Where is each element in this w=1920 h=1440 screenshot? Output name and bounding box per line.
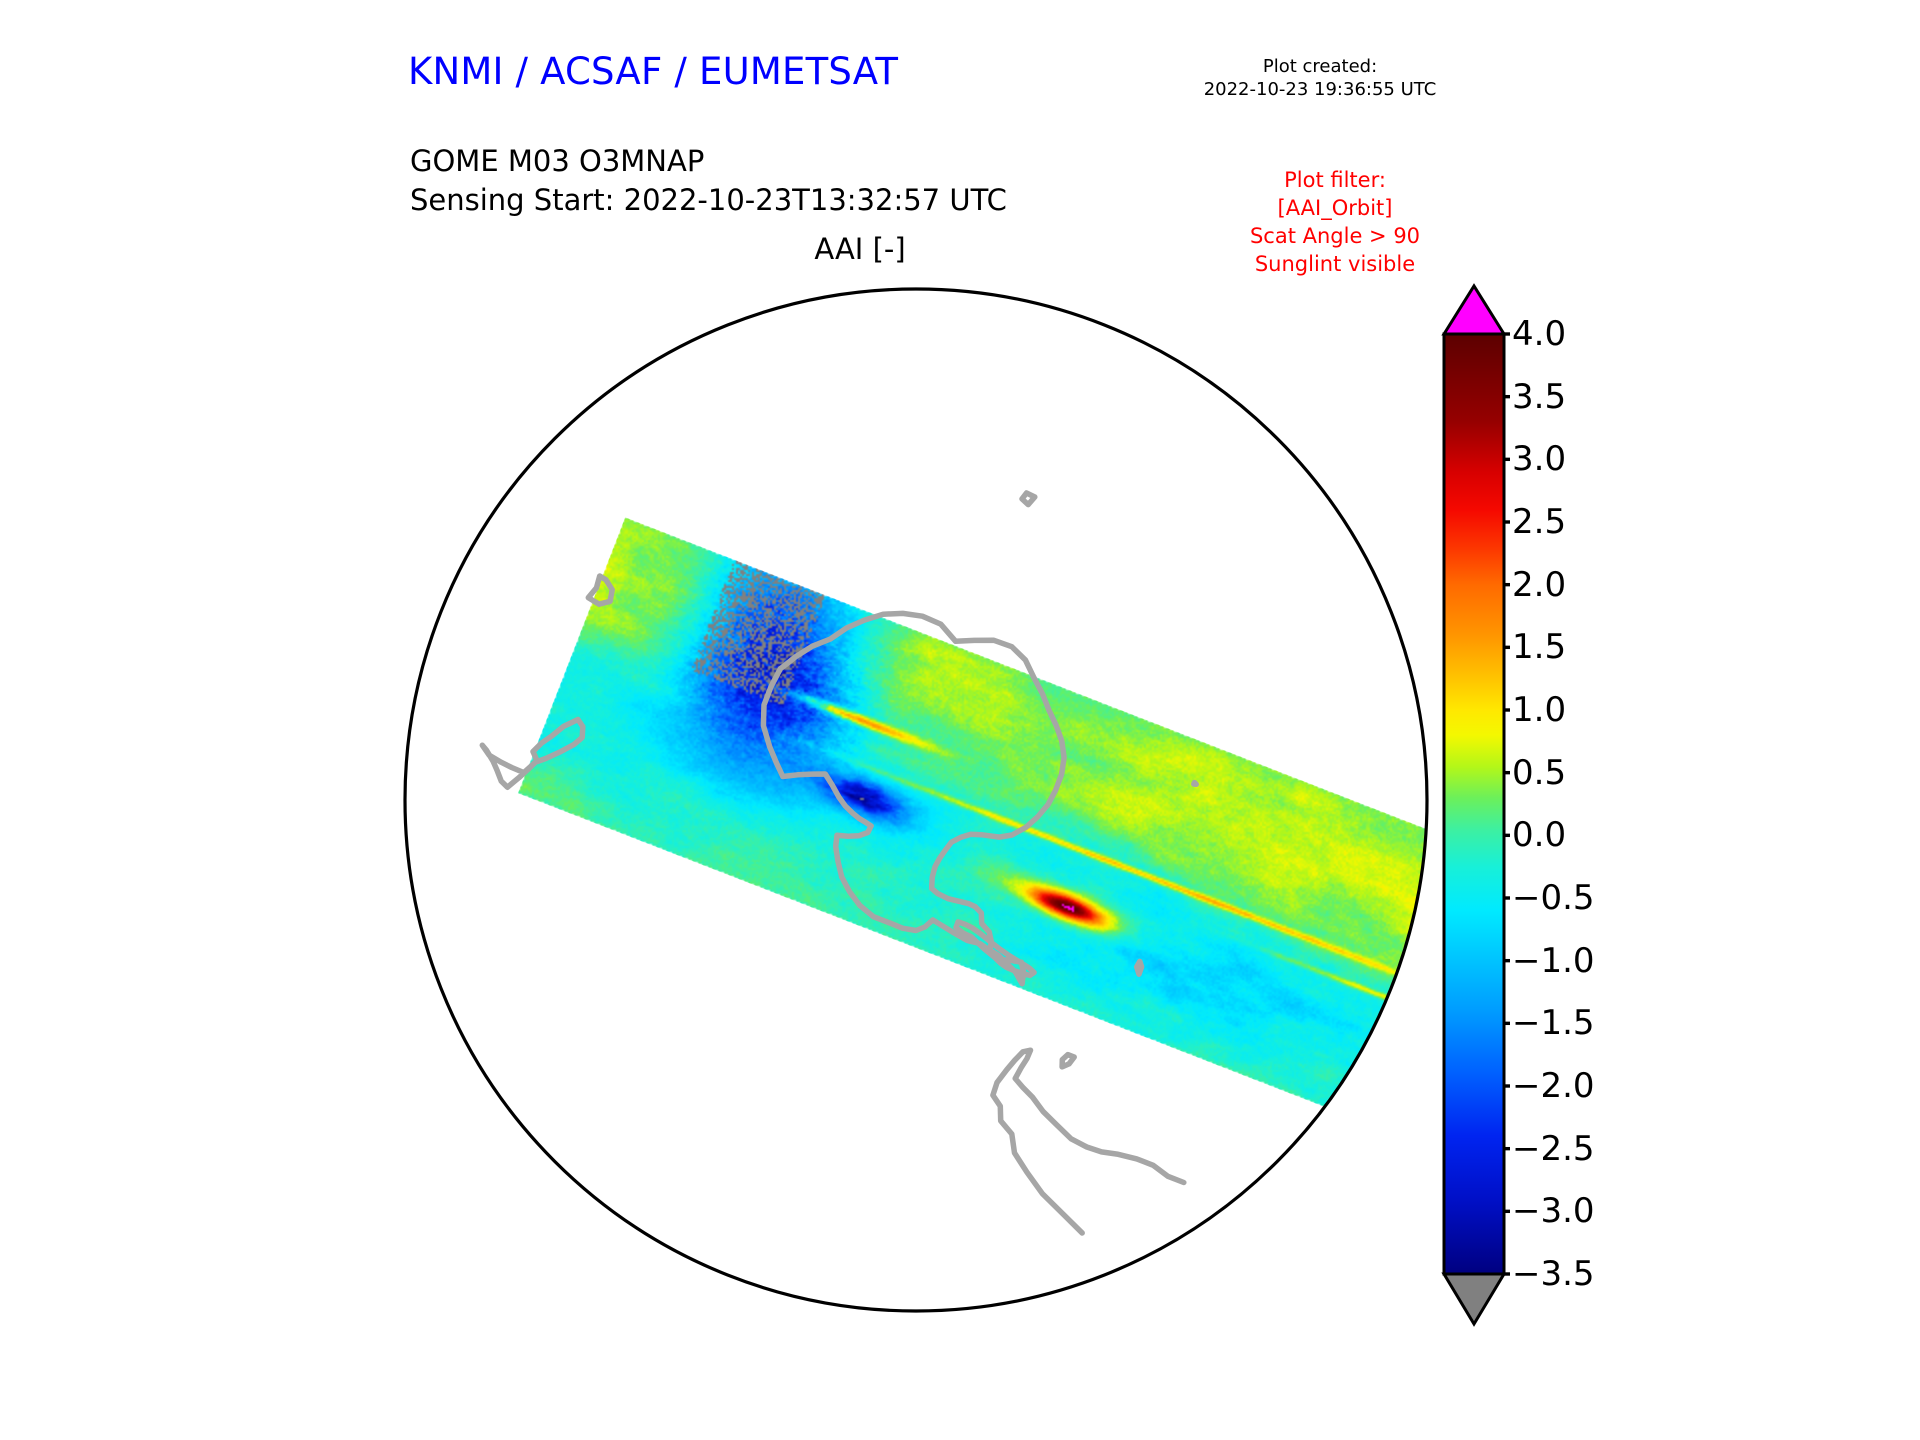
colorbar-tick-label: −2.5	[1512, 1129, 1595, 1169]
colorbar-tick-label: 4.0	[1512, 314, 1566, 354]
colorbar-tick-label: 0.0	[1512, 815, 1566, 855]
sensing-start: Sensing Start: 2022-10-23T13:32:57 UTC	[410, 181, 1007, 220]
plot-created-label: Plot created:	[1155, 55, 1485, 78]
colorbar-tick-label: 3.0	[1512, 439, 1566, 479]
plot-created-block: Plot created: 2022-10-23 19:36:55 UTC	[1155, 55, 1485, 102]
colorbar-tick-label: 3.5	[1512, 377, 1566, 417]
plot-created-timestamp: 2022-10-23 19:36:55 UTC	[1155, 78, 1485, 101]
colorbar-over-arrow	[1444, 286, 1504, 334]
colorbar-tick-labels: 4.03.53.02.52.01.51.00.50.0−0.5−1.0−1.5−…	[1512, 280, 1642, 1330]
colorbar-tick-label: 1.0	[1512, 690, 1566, 730]
plot-filter-line-1: Plot filter:	[1185, 167, 1485, 195]
colorbar-tick-label: 1.5	[1512, 627, 1566, 667]
plot-filter-line-2: [AAI_Orbit]	[1185, 195, 1485, 223]
colorbar-tick-label: −0.5	[1512, 878, 1595, 918]
colorbar-under-arrow	[1444, 1274, 1504, 1324]
organisation-title: KNMI / ACSAF / EUMETSAT	[408, 50, 898, 93]
product-info-block: GOME M03 O3MNAP Sensing Start: 2022-10-2…	[410, 142, 1007, 219]
colorbar-tick-label: −3.5	[1512, 1254, 1595, 1294]
map-plot-area	[392, 276, 1440, 1324]
colorbar-gradient-bar	[1444, 334, 1504, 1274]
colorbar-tick-label: −1.0	[1512, 941, 1595, 981]
plot-filter-block: Plot filter: [AAI_Orbit] Scat Angle > 90…	[1185, 167, 1485, 279]
colorbar	[1440, 280, 1510, 1330]
product-name: GOME M03 O3MNAP	[410, 142, 1007, 181]
colorbar-tick-label: −1.5	[1512, 1003, 1595, 1043]
colorbar-tick-label: 2.0	[1512, 565, 1566, 605]
colorbar-tick-label: 2.5	[1512, 502, 1566, 542]
colorbar-tick-label: −3.0	[1512, 1191, 1595, 1231]
colorbar-tick-label: 0.5	[1512, 753, 1566, 793]
plot-filter-line-3: Scat Angle > 90	[1185, 223, 1485, 251]
plot-filter-line-4: Sunglint visible	[1185, 251, 1485, 279]
colorbar-tick-label: −2.0	[1512, 1066, 1595, 1106]
